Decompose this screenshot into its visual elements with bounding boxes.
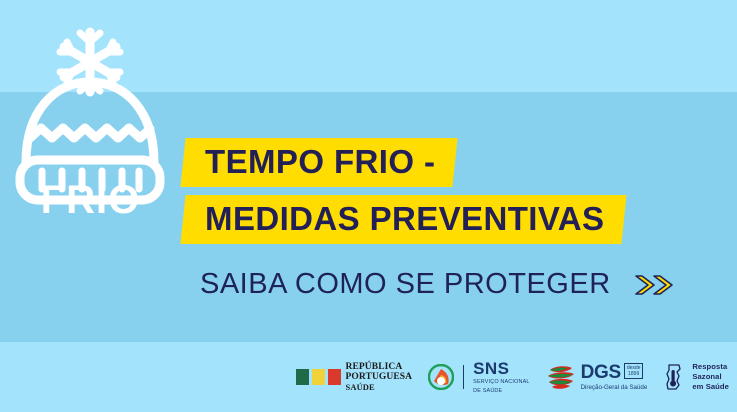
subtitle-text: SAIBA COMO SE PROTEGER — [200, 268, 611, 301]
headline-band-2: MEDIDAS PREVENTIVAS — [180, 195, 627, 244]
dgs-subtitle: Direção-Geral da Saúde — [581, 384, 648, 391]
sns-circle-icon — [428, 364, 454, 390]
rp-line-1: REPÚBLICA — [346, 362, 413, 373]
republica-portuguesa-text: REPÚBLICA PORTUGUESA SAÚDE — [346, 362, 413, 393]
republica-portuguesa-saude-logo: REPÚBLICA PORTUGUESA SAÚDE — [296, 362, 413, 393]
resposta-sazonal-text: Resposta Sazonal em Saúde — [692, 362, 729, 392]
portugal-flag-squares-icon — [296, 369, 341, 385]
headline: TEMPO FRIO - MEDIDAS PREVENTIVAS — [183, 138, 624, 251]
dgs-logo: DGS desde 1899 Direção-Geral da Saúde — [546, 363, 648, 391]
double-chevron-right-icon[interactable] — [633, 272, 675, 298]
flag-square-yellow — [312, 369, 325, 385]
frio-logo-word: FRIO — [8, 180, 173, 220]
dgs-since-label: desde — [627, 365, 641, 371]
flag-square-green — [296, 369, 309, 385]
sns-subtitle-1: SERVIÇO NACIONAL — [473, 379, 529, 386]
dgs-text: DGS desde 1899 Direção-Geral da Saúde — [581, 363, 648, 391]
dgs-acronym: DGS — [581, 363, 621, 382]
headline-line-2: MEDIDAS PREVENTIVAS — [205, 201, 604, 237]
rs-line-2: Sazonal — [692, 372, 729, 382]
sns-divider — [463, 365, 464, 389]
sns-subtitle-2: DE SAÚDE — [473, 388, 529, 395]
sns-text: SNS SERVIÇO NACIONAL DE SAÚDE — [473, 360, 529, 395]
resposta-sazonal-em-saude-logo: Resposta Sazonal em Saúde — [663, 362, 729, 392]
footer-logo-strip: REPÚBLICA PORTUGUESA SAÚDE SNS SERVIÇO N… — [0, 342, 737, 412]
rp-line-3: SAÚDE — [346, 383, 413, 393]
headline-band-1: TEMPO FRIO - — [180, 138, 457, 187]
dgs-since-year: 1899 — [628, 371, 639, 377]
frio-logo: FRIO — [8, 20, 173, 235]
headline-line-1: TEMPO FRIO - — [205, 144, 435, 180]
dgs-top-row: DGS desde 1899 — [581, 363, 648, 382]
subtitle-row[interactable]: SAIBA COMO SE PROTEGER — [200, 268, 675, 301]
flag-square-red — [328, 369, 341, 385]
rs-line-1: Resposta — [692, 362, 729, 372]
portugal-map-thermometer-icon — [663, 362, 687, 392]
sns-logo: SNS SERVIÇO NACIONAL DE SAÚDE — [428, 360, 529, 395]
dgs-sphere-icon — [546, 363, 576, 391]
rs-line-3: em Saúde — [692, 382, 729, 392]
sns-acronym: SNS — [473, 360, 529, 377]
dgs-since-badge: desde 1899 — [624, 363, 644, 380]
cold-weather-campaign-banner: FRIO TEMPO FRIO - MEDIDAS PREVENTIVAS SA… — [0, 0, 737, 412]
